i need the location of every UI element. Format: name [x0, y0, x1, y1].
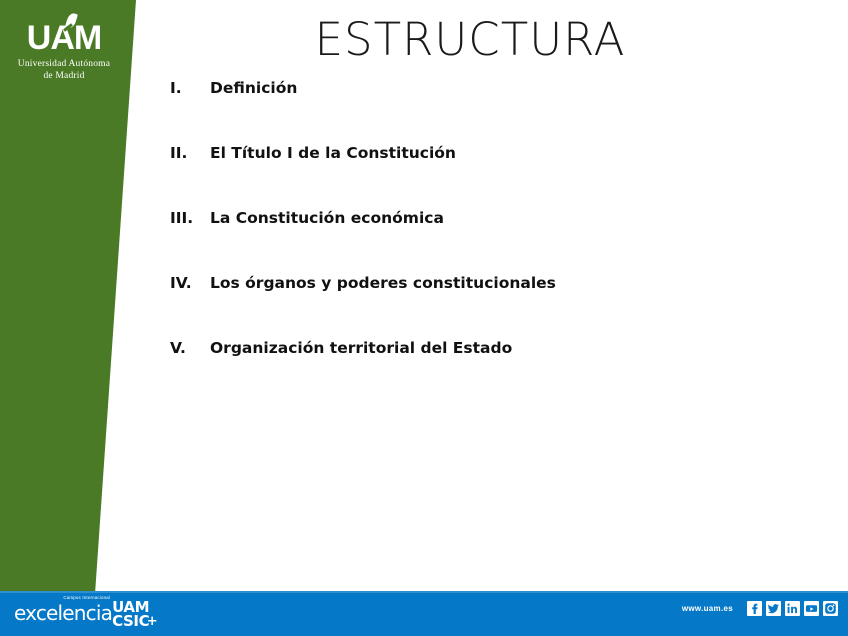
page-title: ESTRUCTURA	[160, 14, 780, 66]
list-item-numeral: V.	[170, 338, 210, 358]
slide-canvas: UAM Universidad Autónoma de Madrid ESTRU…	[0, 0, 848, 636]
green-sidebar-band	[0, 0, 150, 594]
list-item-label: Organización territorial del Estado	[210, 338, 512, 358]
list-item-numeral: I.	[170, 78, 210, 98]
list-item-label: La Constitución económica	[210, 208, 444, 228]
list-item: I. Definición	[170, 78, 810, 143]
facebook-icon[interactable]	[747, 601, 762, 616]
youtube-icon[interactable]	[804, 601, 819, 616]
agenda-list: I. Definición II. El Título I de la Cons…	[170, 78, 810, 403]
list-item-label: Los órganos y poderes constitucionales	[210, 273, 556, 293]
uam-logo: UAM Universidad Autónoma de Madrid	[0, 20, 128, 82]
list-item-numeral: III.	[170, 208, 210, 228]
twitter-icon[interactable]	[766, 601, 781, 616]
excelencia-wordmark: Campus Internacional excelencia	[14, 602, 112, 624]
uam-subtitle: Universidad Autónoma de Madrid	[0, 59, 128, 82]
campus-internacional-tag: Campus Internacional	[63, 595, 110, 600]
footer-bar: Campus Internacional excelencia UAM CSIC…	[0, 591, 848, 636]
footer-top-rule	[0, 591, 848, 593]
list-item: III. La Constitución económica	[170, 208, 810, 273]
list-item: V. Organización territorial del Estado	[170, 338, 810, 403]
instagram-icon[interactable]	[823, 601, 838, 616]
list-item-label: El Título I de la Constitución	[210, 143, 456, 163]
uam-csic-lockup: UAM CSIC +	[112, 600, 149, 628]
linkedin-icon[interactable]	[785, 601, 800, 616]
list-item-numeral: IV.	[170, 273, 210, 293]
uam-csic-csic: CSIC	[112, 614, 149, 628]
uam-subtitle-line1: Universidad Autónoma	[0, 59, 128, 71]
list-item-label: Definición	[210, 78, 297, 98]
excelencia-wordmark-text: excelencia	[14, 601, 112, 625]
uam-csic-plus: +	[147, 616, 158, 628]
website-url[interactable]: www.uam.es	[682, 604, 733, 613]
footer-links: www.uam.es	[682, 601, 838, 616]
uam-subtitle-line2: de Madrid	[0, 71, 128, 83]
uam-wordmark: UAM	[27, 20, 101, 56]
excelencia-uam-csic-logo: Campus Internacional excelencia UAM CSIC…	[14, 597, 149, 629]
list-item: II. El Título I de la Constitución	[170, 143, 810, 208]
list-item-numeral: II.	[170, 143, 210, 163]
uam-wordmark-text: UAM	[27, 19, 101, 57]
list-item: IV. Los órganos y poderes constitucional…	[170, 273, 810, 338]
